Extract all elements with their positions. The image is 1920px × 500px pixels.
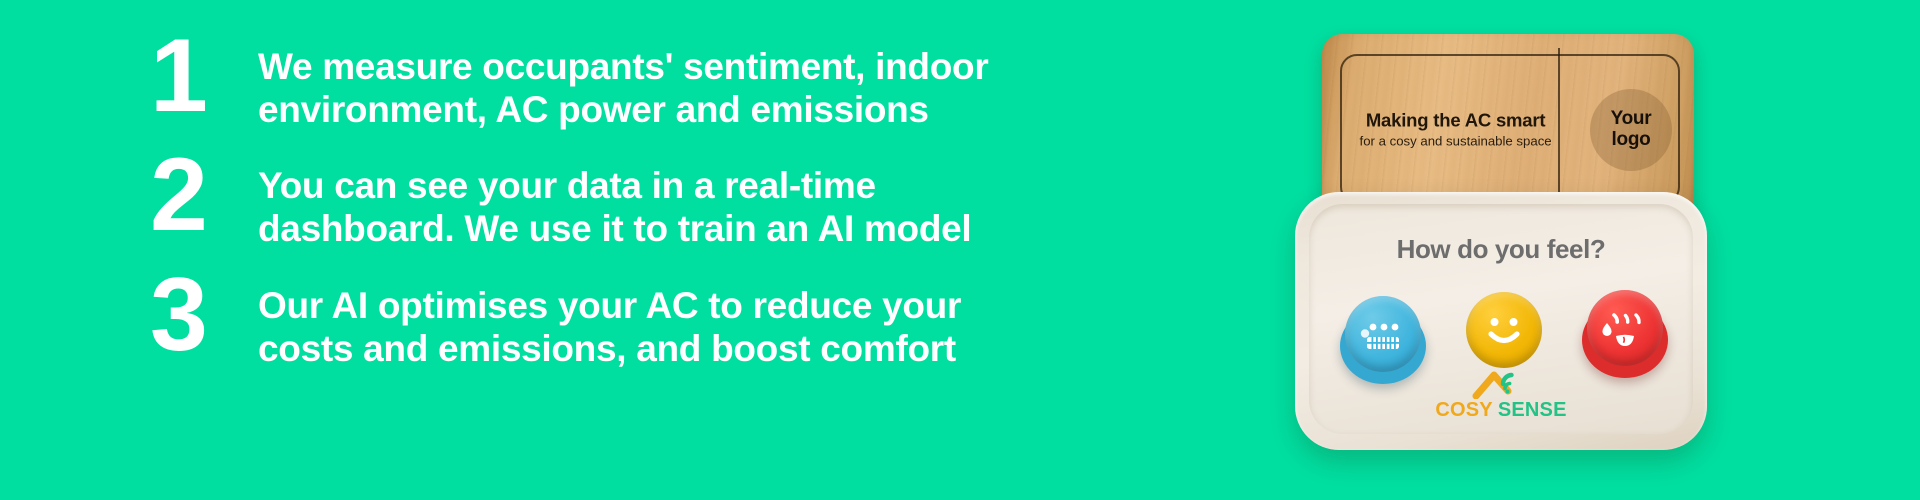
step-item: 1 We measure occupants' sentiment, indoo… [150, 34, 1070, 135]
step-text-line: dashboard. We use it to train an AI mode… [258, 208, 1058, 251]
step-text-line: costs and emissions, and boost comfort [258, 328, 1058, 371]
mood-button-cold[interactable] [1345, 296, 1421, 372]
step-text-line: We measure occupants' sentiment, indoor [258, 46, 1058, 89]
logo-placeholder-text: Your logo [1611, 109, 1652, 150]
logo-placeholder-line2: logo [1611, 130, 1652, 151]
feedback-prompt: How do you feel? [1309, 234, 1693, 265]
logo-placeholder-circle: Your logo [1590, 89, 1672, 171]
tagline-main: Making the AC smart [1344, 111, 1567, 132]
step-number: 2 [150, 147, 258, 244]
mood-button-hot[interactable] [1587, 290, 1663, 366]
cosy-sense-device: Making the AC smart for a cosy and susta… [1295, 34, 1725, 466]
step-number: 3 [150, 267, 258, 364]
device-base: How do you feel? [1295, 192, 1707, 450]
step-text-line: environment, AC power and emissions [258, 89, 1058, 132]
step-text-line: You can see your data in a real-time [258, 165, 1058, 208]
step-number: 1 [150, 28, 258, 125]
logo-placeholder-line1: Your [1611, 109, 1652, 130]
step-text: We measure occupants' sentiment, indoor … [258, 34, 1058, 132]
steps-list: 1 We measure occupants' sentiment, indoo… [150, 34, 1070, 374]
brand-word-cosy: COSY [1435, 399, 1492, 421]
step-text: Our AI optimises your AC to reduce your … [258, 273, 1058, 371]
mood-button-comfortable[interactable] [1466, 292, 1542, 368]
lid-tagline: Making the AC smart for a cosy and susta… [1344, 111, 1567, 150]
brand-wordmark: COSYSENSE [1426, 400, 1576, 420]
house-wifi-icon [1470, 365, 1532, 399]
step-text: You can see your data in a real-time das… [258, 153, 1058, 251]
step-text-line: Our AI optimises your AC to reduce your [258, 285, 1058, 328]
smiling-face-icon [1466, 292, 1542, 368]
brand-word-sense: SENSE [1498, 399, 1567, 421]
step-item: 3 Our AI optimises your AC to reduce you… [150, 273, 1070, 374]
cosy-sense-logo: COSYSENSE [1426, 365, 1576, 420]
promo-banner: 1 We measure occupants' sentiment, indoo… [0, 0, 1920, 500]
shivering-face-icon [1345, 296, 1421, 372]
mood-button-group [1345, 292, 1663, 368]
step-item: 2 You can see your data in a real-time d… [150, 153, 1070, 254]
tagline-sub: for a cosy and sustainable space [1344, 133, 1567, 149]
base-face-panel: How do you feel? [1309, 204, 1693, 434]
sweating-face-icon [1587, 290, 1663, 366]
